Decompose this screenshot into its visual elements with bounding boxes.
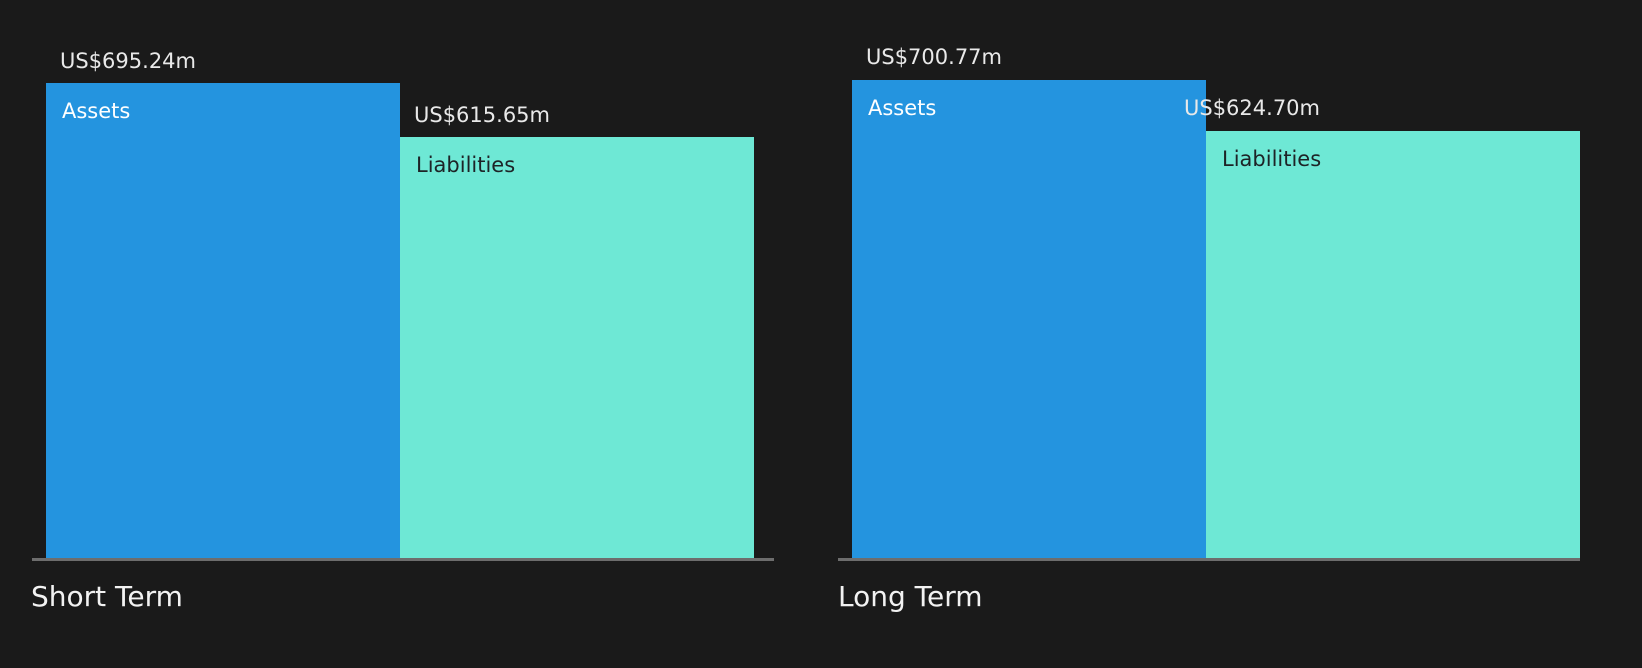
value-label-short-term-liabilities: US$615.65m: [414, 105, 550, 126]
baseline-axis-short-term: [32, 558, 774, 561]
chart-group-short-term: US$695.24m Assets US$615.65m Liabilities…: [0, 0, 806, 668]
bar-short-term-assets[interactable]: Assets: [46, 83, 400, 558]
value-label-short-term-assets: US$695.24m: [60, 51, 196, 72]
series-label-liabilities: Liabilities: [416, 155, 515, 176]
bar-long-term-assets[interactable]: Assets: [852, 80, 1206, 558]
category-label-long-term: Long Term: [838, 580, 983, 614]
series-label-assets: Assets: [868, 98, 936, 119]
value-label-long-term-assets: US$700.77m: [866, 47, 1002, 68]
series-label-liabilities: Liabilities: [1222, 149, 1321, 170]
value-label-long-term-liabilities: US$624.70m: [1184, 98, 1320, 119]
bar-long-term-liabilities[interactable]: Liabilities: [1206, 131, 1580, 558]
series-label-assets: Assets: [62, 101, 130, 122]
category-label-short-term: Short Term: [31, 580, 183, 614]
baseline-axis-long-term: [838, 558, 1580, 561]
bar-short-term-liabilities[interactable]: Liabilities: [400, 137, 754, 558]
chart-group-long-term: US$700.77m Assets US$624.70m Liabilities…: [838, 0, 1642, 668]
assets-liabilities-bar-chart: US$695.24m Assets US$615.65m Liabilities…: [0, 0, 1642, 668]
